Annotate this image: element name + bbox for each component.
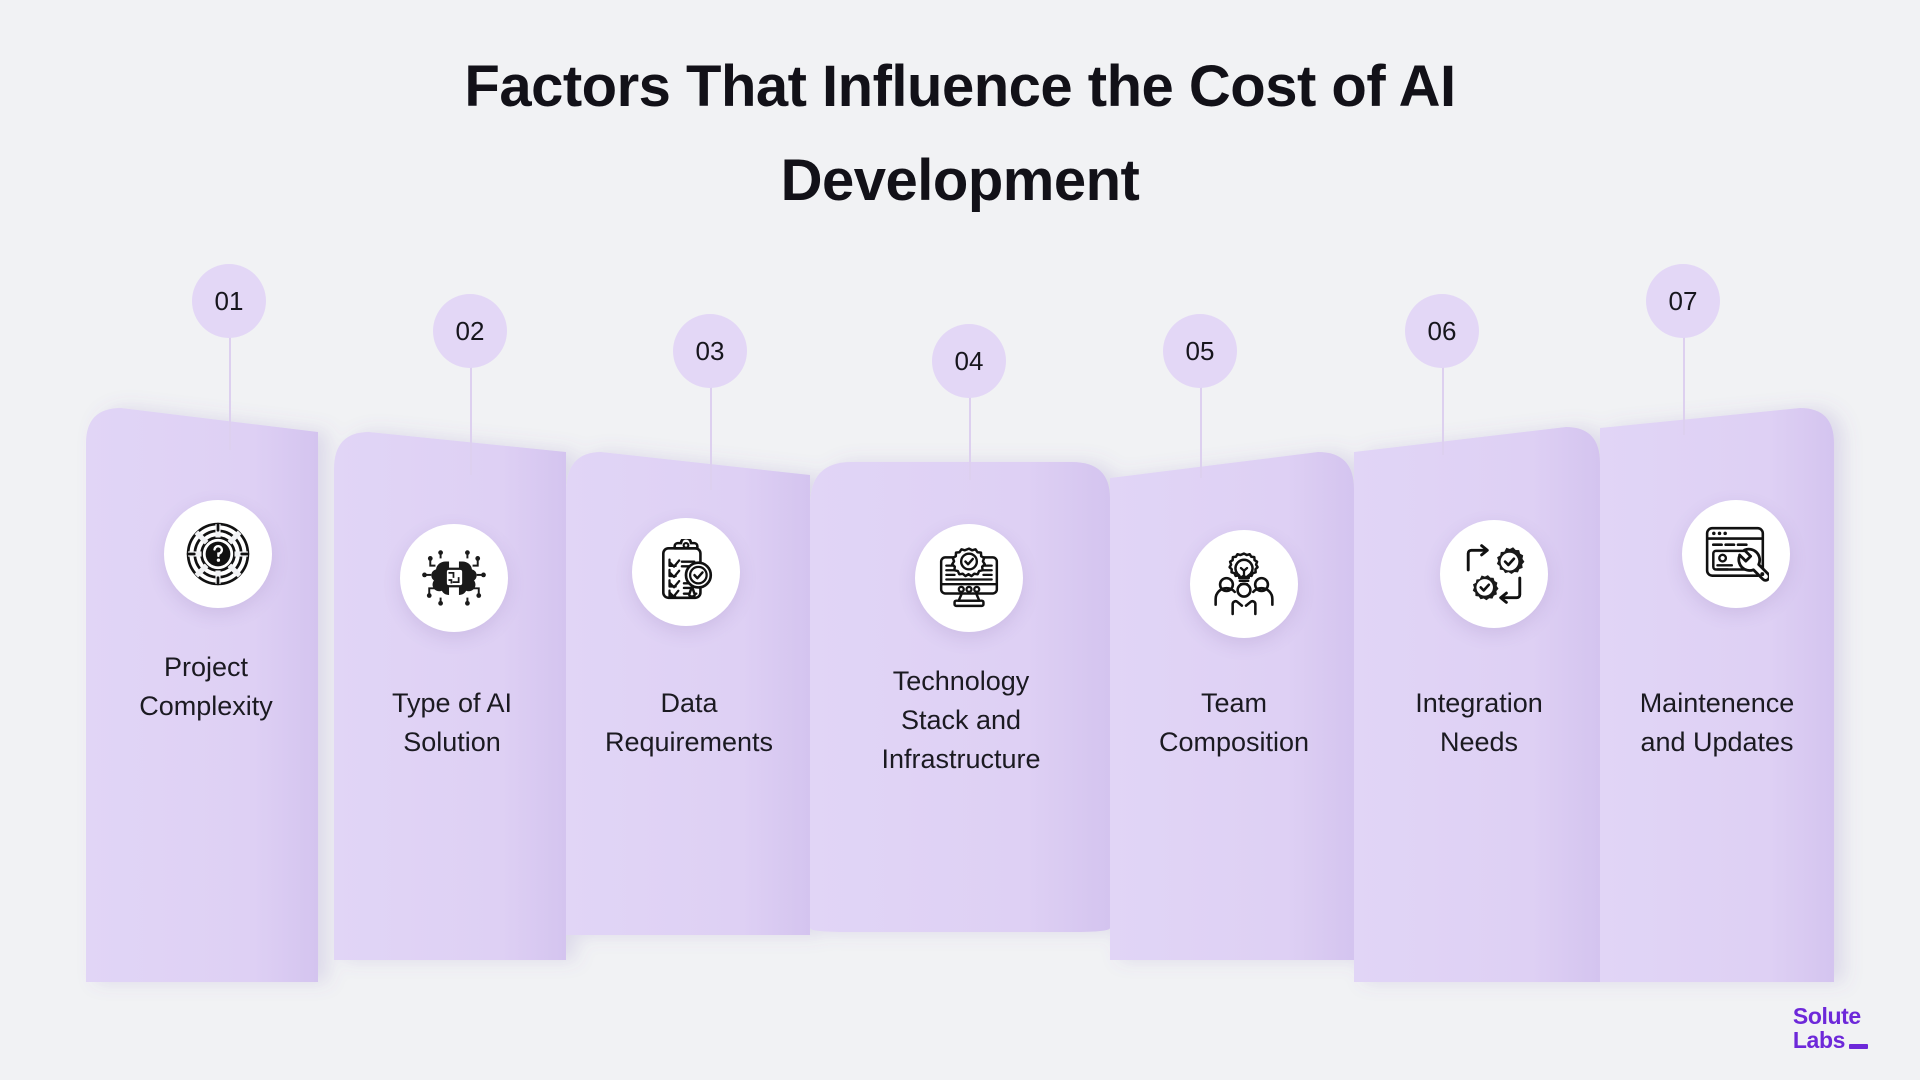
icon-circle-05[interactable] xyxy=(1190,530,1298,638)
step-badge-number: 03 xyxy=(696,336,725,367)
connector-line-01 xyxy=(229,330,231,450)
step-badge-number: 04 xyxy=(955,346,984,377)
infographic-stage: 01 02 03 04 05 06 07 xyxy=(0,0,1920,1080)
ai-brain-chip-icon xyxy=(421,545,487,611)
icon-circle-07[interactable] xyxy=(1682,500,1790,608)
browser-wrench-icon xyxy=(1703,521,1769,587)
step-badge-05[interactable]: 05 xyxy=(1163,314,1237,388)
icon-circle-06[interactable] xyxy=(1440,520,1548,628)
step-badge-06[interactable]: 06 xyxy=(1405,294,1479,368)
step-badge-07[interactable]: 07 xyxy=(1646,264,1720,338)
step-badge-04[interactable]: 04 xyxy=(932,324,1006,398)
card-label-02: Type of AISolution xyxy=(352,684,552,762)
step-badge-01[interactable]: 01 xyxy=(192,264,266,338)
gears-sync-check-icon xyxy=(1461,541,1527,607)
step-badge-number: 05 xyxy=(1186,336,1215,367)
step-badge-number: 07 xyxy=(1669,286,1698,317)
connector-line-07 xyxy=(1683,330,1685,435)
logo-line-one: Solute xyxy=(1793,1005,1868,1028)
connector-line-04 xyxy=(969,390,971,480)
logo-line-two: Labs xyxy=(1793,1029,1845,1052)
brand-logo[interactable]: Solute Labs xyxy=(1793,1005,1868,1052)
connector-line-03 xyxy=(710,380,712,490)
monitor-gear-check-icon xyxy=(936,545,1002,611)
icon-circle-03[interactable] xyxy=(632,518,740,626)
step-badge-03[interactable]: 03 xyxy=(673,314,747,388)
card-label-05: TeamComposition xyxy=(1132,684,1336,762)
clipboard-checklist-magnifier-icon xyxy=(653,539,719,605)
card-label-06: IntegrationNeeds xyxy=(1376,684,1582,762)
card-label-01: ProjectComplexity xyxy=(106,648,306,726)
maze-question-icon xyxy=(185,521,251,587)
step-badge-02[interactable]: 02 xyxy=(433,294,507,368)
team-lightbulb-icon xyxy=(1211,551,1277,617)
connector-line-05 xyxy=(1200,380,1202,478)
connector-line-02 xyxy=(470,360,472,475)
step-badge-number: 01 xyxy=(215,286,244,317)
card-label-04: TechnologyStack andInfrastructure xyxy=(848,662,1074,779)
step-badge-number: 06 xyxy=(1428,316,1457,347)
step-badge-number: 02 xyxy=(456,316,485,347)
logo-underscore-icon xyxy=(1849,1044,1868,1049)
card-label-03: DataRequirements xyxy=(578,684,800,762)
icon-circle-01[interactable] xyxy=(164,500,272,608)
card-label-07: Maintenenceand Updates xyxy=(1608,684,1826,762)
icon-circle-02[interactable] xyxy=(400,524,508,632)
connector-line-06 xyxy=(1442,360,1444,455)
icon-circle-04[interactable] xyxy=(915,524,1023,632)
